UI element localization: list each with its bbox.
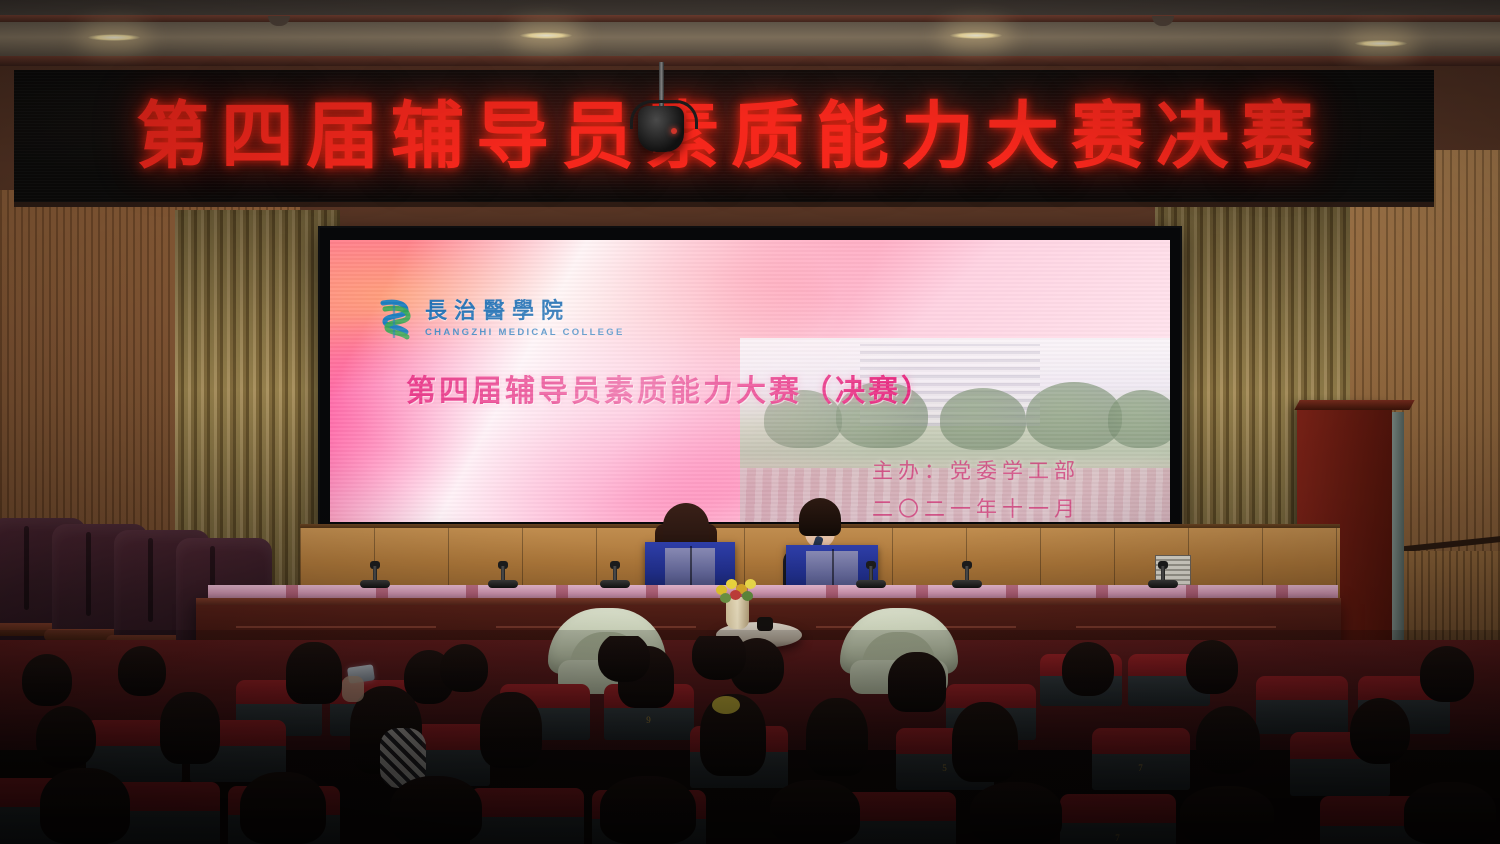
led-banner: 第四届辅导员素质能力大赛决赛 xyxy=(14,70,1434,207)
hair-accessory xyxy=(712,696,740,714)
audience-seat[interactable] xyxy=(470,788,584,844)
seat-number: 5 xyxy=(942,763,948,773)
table-microphone[interactable] xyxy=(962,566,972,588)
slide-title: 第四届辅导员素质能力大赛（决赛） xyxy=(406,366,1136,410)
audience-head xyxy=(692,636,746,680)
host-hair xyxy=(799,498,841,536)
ceiling-trim-upper xyxy=(0,15,1500,22)
audience-head xyxy=(952,702,1018,782)
audience-head xyxy=(440,644,488,692)
ceiling-downlight xyxy=(1355,40,1407,47)
ceiling-light-band xyxy=(0,22,1500,56)
audience-head xyxy=(1062,642,1114,696)
ceiling-downlight xyxy=(520,32,572,39)
audience-head xyxy=(970,782,1062,844)
seat-number: 7 xyxy=(1138,763,1144,773)
audience-head xyxy=(1404,782,1496,844)
flower xyxy=(730,590,741,600)
table-object xyxy=(757,617,773,631)
flower-arrangement xyxy=(712,575,764,603)
head-table-trim xyxy=(196,598,1341,605)
table-microphone[interactable] xyxy=(866,566,876,588)
audience-head xyxy=(1196,706,1260,774)
auditorium-photo: 第四届辅导员素质能力大赛决赛 xyxy=(0,0,1500,844)
audience-head xyxy=(600,776,696,844)
seat-cushion xyxy=(1256,676,1348,703)
slide-organizer-line: 主办：党委学工部 xyxy=(872,455,1080,485)
audience-head xyxy=(598,636,650,682)
led-banner-text: 第四届辅导员素质能力大赛决赛 xyxy=(122,100,1326,173)
projection-screen: 長治醫學院 CHANGZHI MEDICAL COLLEGE 第四届辅导员素质能… xyxy=(330,240,1170,522)
audience-head xyxy=(770,780,860,844)
audience-head xyxy=(806,698,868,776)
chair-seam xyxy=(148,538,153,622)
audience-head xyxy=(1350,698,1410,764)
slide-logo: 長治醫學院 CHANGZHI MEDICAL COLLEGE xyxy=(376,298,625,340)
changzhi-medical-college-logo-icon xyxy=(376,298,414,340)
seat-back xyxy=(1290,759,1390,796)
seat-number: 9 xyxy=(646,715,652,725)
audience-head xyxy=(1186,640,1238,694)
audience-head xyxy=(40,768,130,844)
audience-head xyxy=(1180,786,1274,844)
projection-screen-frame: 長治醫學院 CHANGZHI MEDICAL COLLEGE 第四届辅导员素质能… xyxy=(318,226,1182,536)
audience-seat[interactable] xyxy=(1256,676,1348,734)
table-microphone[interactable] xyxy=(610,566,620,588)
logo-english-name: CHANGZHI MEDICAL COLLEGE xyxy=(425,328,625,338)
seat-back xyxy=(1256,700,1348,734)
logo-chinese-name: 長治醫學院 xyxy=(425,301,625,323)
stage-light-indicator xyxy=(671,128,677,134)
microphone-base xyxy=(952,580,982,588)
audience-head xyxy=(1420,646,1474,702)
seat-number: 7 xyxy=(1115,833,1121,843)
microphone-base xyxy=(600,580,630,588)
audience-seat[interactable]: 7 xyxy=(1060,794,1176,844)
folder-spine xyxy=(690,546,692,590)
seat-back xyxy=(470,817,584,844)
table-microphone[interactable] xyxy=(498,566,508,588)
door-gap xyxy=(1392,412,1404,674)
seat-cushion xyxy=(470,788,584,820)
slide-date-line: 二〇二一年十一月 xyxy=(872,493,1080,522)
flower xyxy=(745,579,756,589)
seat-cushion xyxy=(1092,728,1190,757)
audience-hand xyxy=(342,676,364,702)
seat-cushion xyxy=(1060,794,1176,826)
chair-seam xyxy=(24,526,29,610)
microphone-base xyxy=(360,580,390,588)
stage-light-fixture xyxy=(638,106,684,152)
audience-area: 9 xyxy=(0,636,1500,844)
slide-logo-text: 長治醫學院 CHANGZHI MEDICAL COLLEGE xyxy=(425,301,625,338)
ceiling-downlight xyxy=(88,34,140,41)
audience-head xyxy=(888,652,946,712)
ceiling-trim-lower xyxy=(0,56,1500,66)
audience-head xyxy=(240,772,326,844)
table-microphone[interactable] xyxy=(1158,566,1168,588)
microphone-base xyxy=(1148,580,1178,588)
microphone-base xyxy=(488,580,518,588)
table-microphone[interactable] xyxy=(370,566,380,588)
audience-head xyxy=(36,706,96,768)
led-banner-screen: 第四届辅导员素质能力大赛决赛 xyxy=(14,70,1434,202)
audience-head xyxy=(22,654,72,706)
audience-head xyxy=(118,646,166,696)
flower xyxy=(742,591,753,601)
ceiling-downlight xyxy=(950,32,1002,39)
microphone-base xyxy=(856,580,886,588)
chair-seam xyxy=(86,532,91,616)
door-frame-top xyxy=(1294,400,1414,410)
audience-seat[interactable]: 7 xyxy=(1092,728,1190,790)
flower xyxy=(720,593,731,603)
audience-head xyxy=(160,692,220,764)
audience-head xyxy=(286,642,342,704)
audience-head xyxy=(480,692,542,768)
audience-head xyxy=(390,776,482,844)
